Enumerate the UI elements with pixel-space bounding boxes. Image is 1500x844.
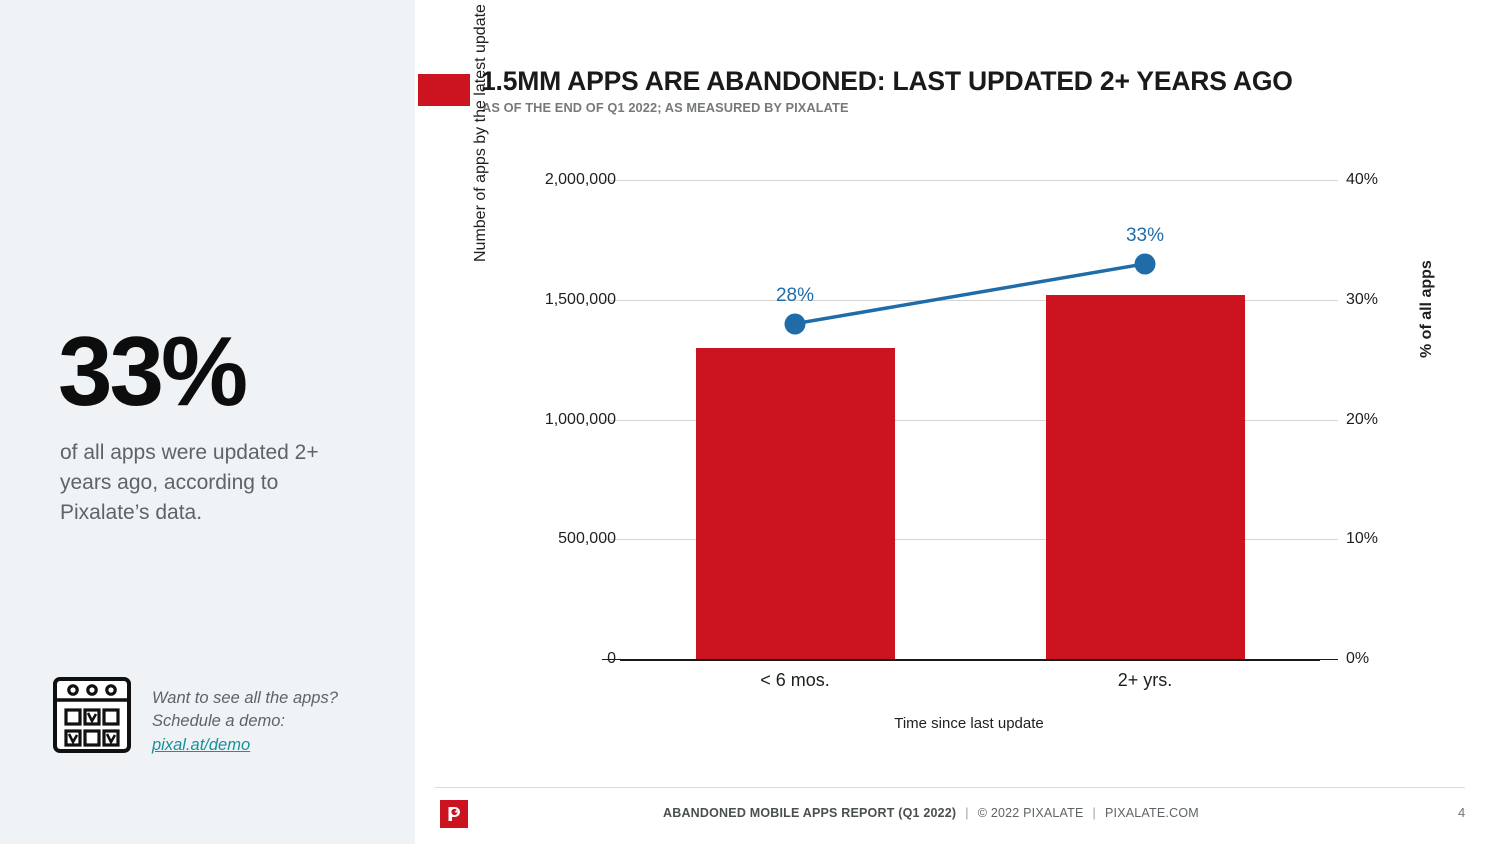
y-axis-title-left: Number of apps by the latest update <box>472 4 490 262</box>
slide: 33% of all apps were updated 2+ years ag… <box>0 0 1500 844</box>
data-point-label: 33% <box>1126 225 1164 247</box>
y-axis-tick-right <box>1320 539 1338 540</box>
y-axis-label-left: 0 <box>607 650 616 668</box>
y-axis-tick-right <box>1320 420 1338 421</box>
chart: Number of apps by the latest update % of… <box>0 0 1500 844</box>
y-axis-title-right: % of all apps <box>1418 260 1436 358</box>
y-axis-tick-right <box>1320 300 1338 301</box>
footer-report-name: ABANDONED MOBILE APPS REPORT (Q1 2022) <box>663 806 956 820</box>
page-number: 4 <box>1458 805 1465 820</box>
y-axis-label-right: 40% <box>1346 171 1378 189</box>
footer-separator-2: | <box>1093 806 1096 820</box>
y-axis-label-left: 1,000,000 <box>545 411 616 429</box>
footer-divider <box>435 787 1465 788</box>
data-point-marker <box>785 313 806 334</box>
y-axis-tick-right <box>1320 180 1338 181</box>
y-axis-label-right: 10% <box>1346 530 1378 548</box>
x-axis-title: Time since last update <box>894 715 1044 732</box>
y-axis-tick-right <box>1320 659 1338 660</box>
y-axis-label-right: 0% <box>1346 650 1369 668</box>
footer-text: ABANDONED MOBILE APPS REPORT (Q1 2022) |… <box>663 806 1199 820</box>
x-axis-line <box>620 659 1320 661</box>
y-axis-label-left: 500,000 <box>558 530 616 548</box>
x-axis-category-label: < 6 mos. <box>760 670 830 691</box>
y-axis-label-right: 20% <box>1346 411 1378 429</box>
plot-area: 0500,0001,000,0001,500,0002,000,0000%10%… <box>620 180 1320 659</box>
footer-separator-1: | <box>965 806 968 820</box>
pixalate-logo <box>440 800 468 828</box>
data-point-label: 28% <box>776 285 814 307</box>
data-point-marker <box>1135 253 1156 274</box>
line-series <box>620 180 1320 659</box>
x-axis-category-label: 2+ yrs. <box>1118 670 1173 691</box>
y-axis-label-left: 2,000,000 <box>545 171 616 189</box>
footer-copyright: © 2022 PIXALATE <box>978 806 1084 820</box>
footer-website: PIXALATE.COM <box>1105 806 1199 820</box>
y-axis-label-left: 1,500,000 <box>545 291 616 309</box>
y-axis-label-right: 30% <box>1346 291 1378 309</box>
